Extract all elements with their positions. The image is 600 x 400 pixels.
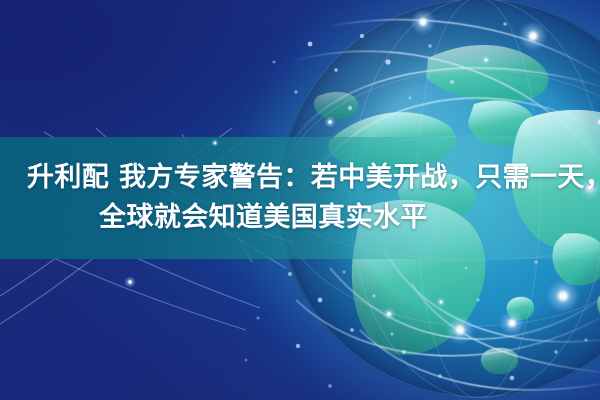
article-cover-banner: 升利配 我方专家警告：若中美开战，只需一天， 全球就会知道美国真实水平 <box>0 0 600 400</box>
headline-text: 升利配 我方专家警告：若中美开战，只需一天， 全球就会知道美国真实水平 <box>0 137 600 259</box>
headline-line-1: 升利配 我方专家警告：若中美开战，只需一天， <box>0 158 600 198</box>
headline-line-2: 全球就会知道美国真实水平 <box>0 198 600 238</box>
